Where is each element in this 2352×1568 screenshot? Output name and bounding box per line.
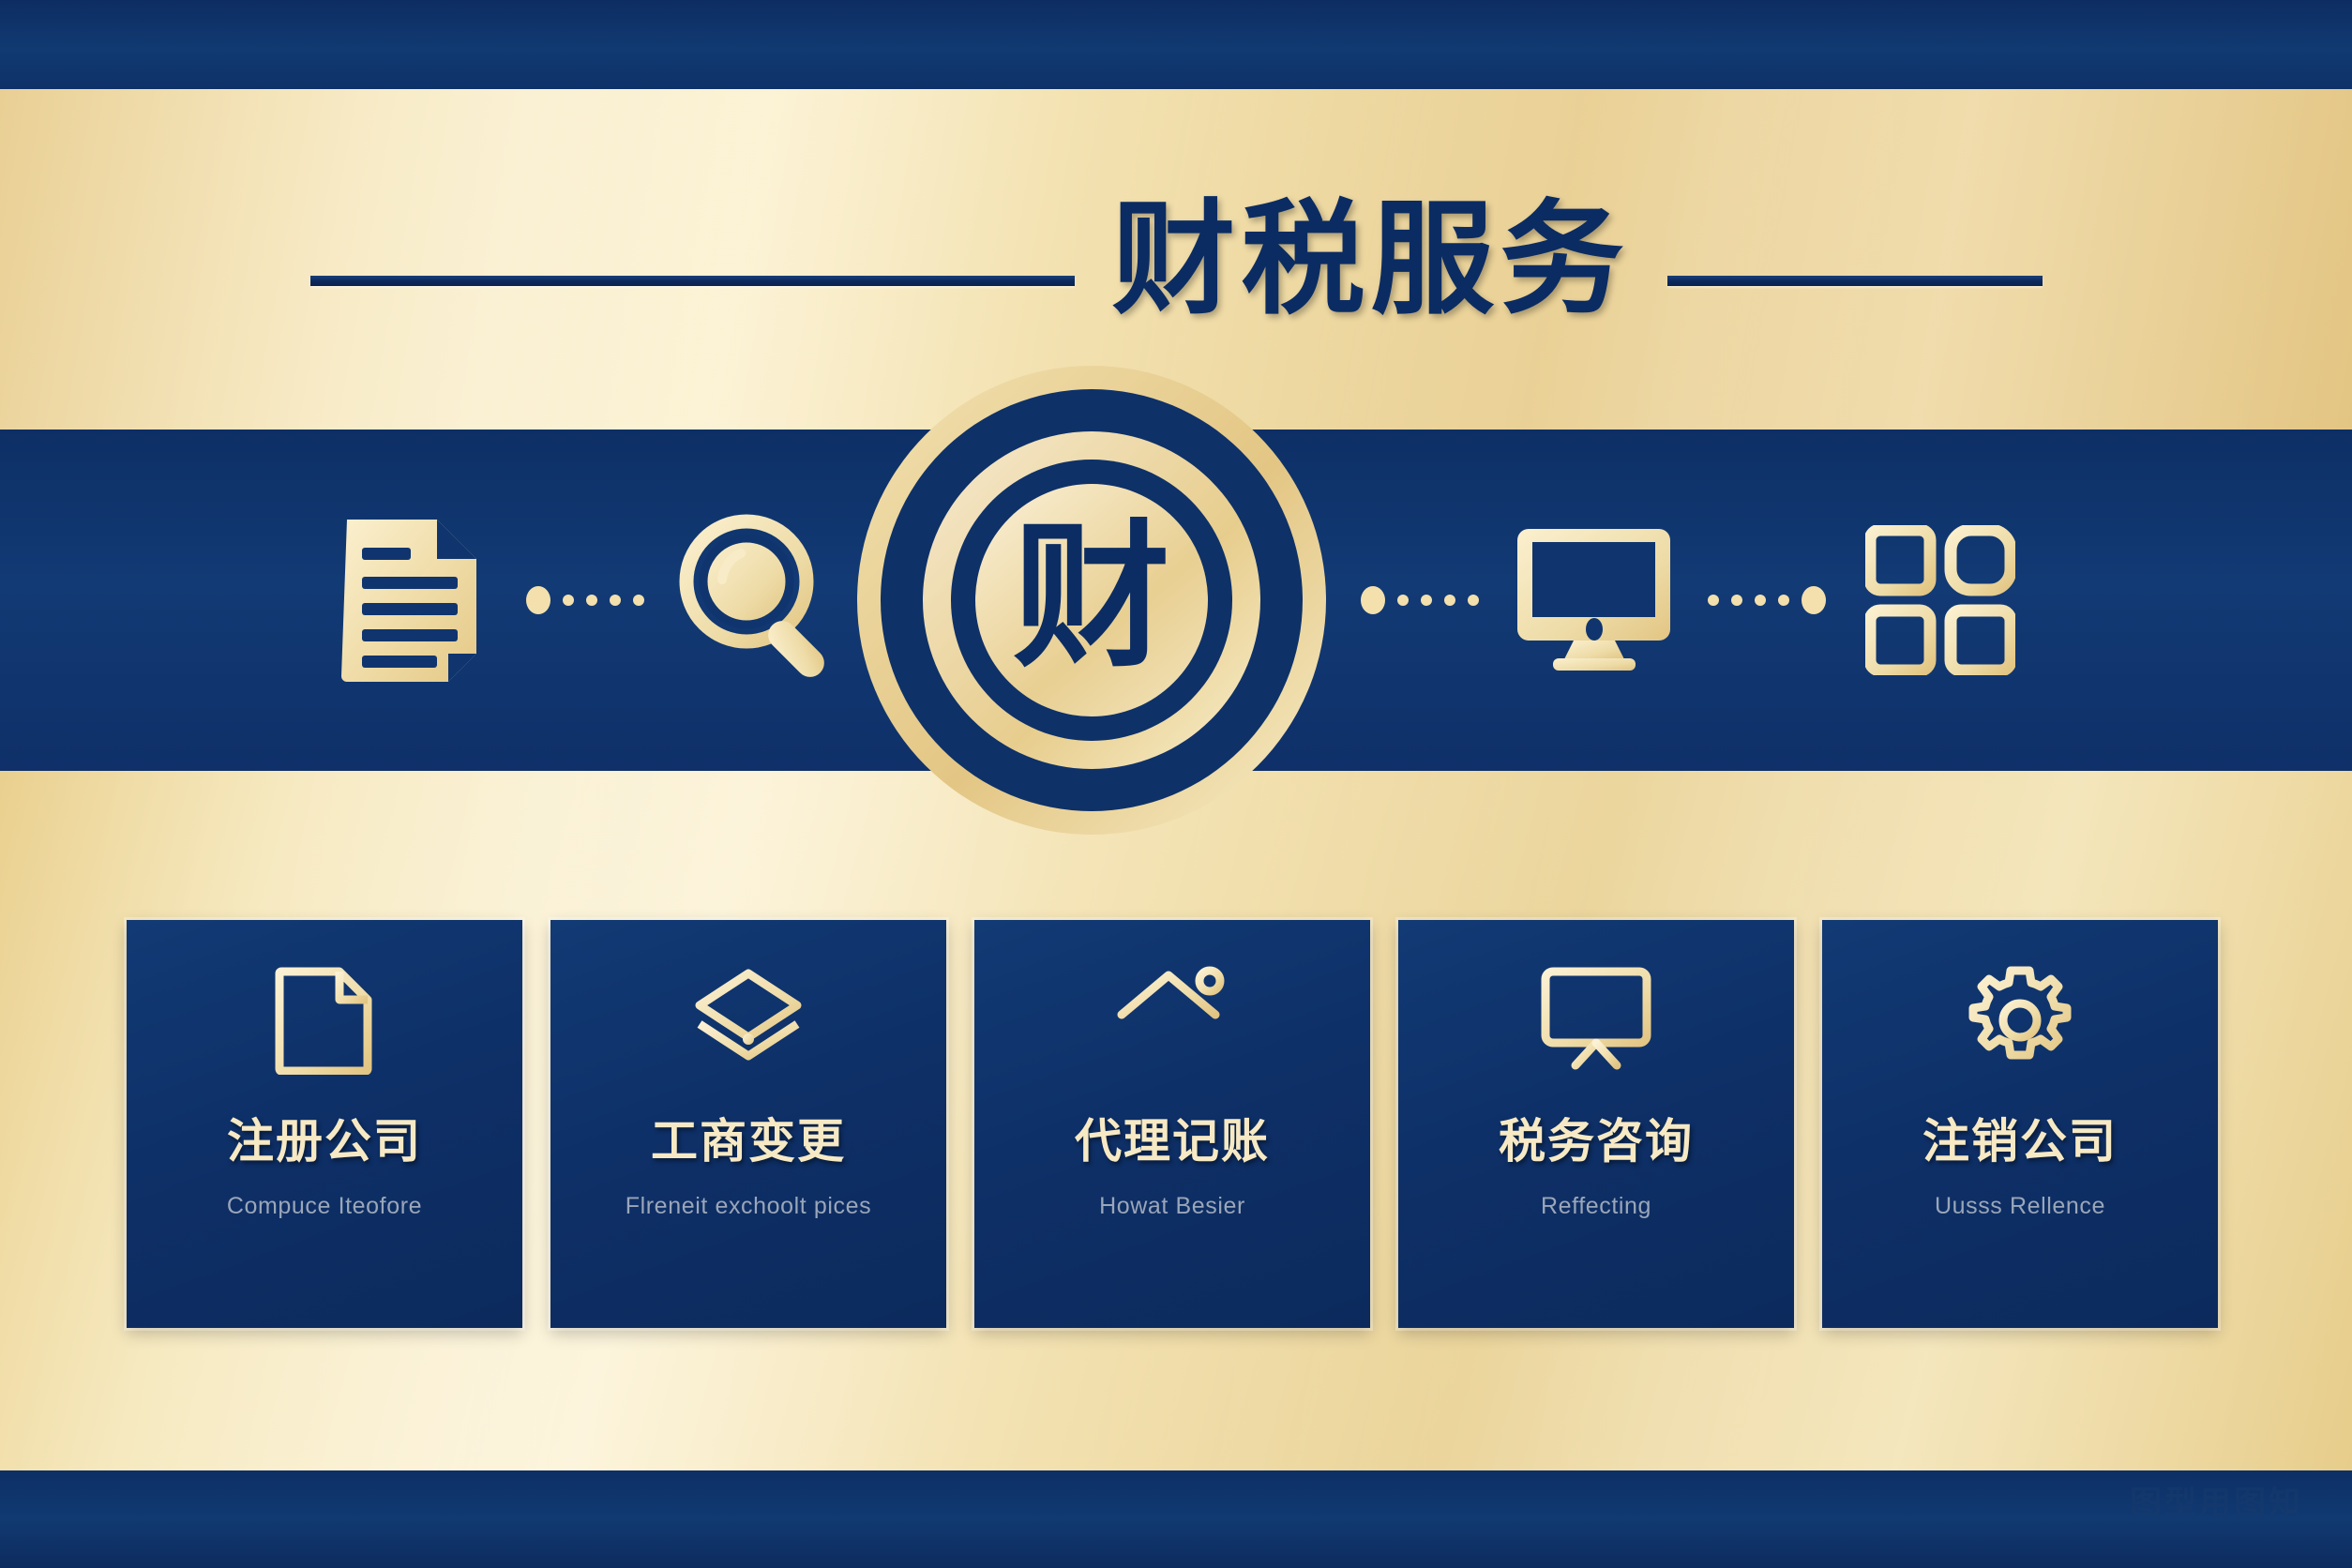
service-card-deregister[interactable]: 注销公司 Uusss Rellence (1822, 920, 2218, 1328)
card-subtitle: Howat Besier (1099, 1189, 1245, 1223)
card-title: 代理记账 (1075, 1117, 1270, 1167)
connector-dots-1 (501, 586, 670, 614)
emblem-icon: 财 (857, 366, 1326, 835)
monitor-icon (1504, 506, 1682, 694)
grid-icon (1851, 506, 2029, 694)
service-card-bookkeeping[interactable]: 代理记账 Howat Besier (974, 920, 1370, 1328)
bank-icon (1114, 965, 1230, 1076)
card-title: 注册公司 (227, 1117, 422, 1167)
card-title: 注销公司 (1922, 1117, 2118, 1167)
service-cards: 注册公司 Compuce Iteofore 工商变更 Flreneit exch… (127, 920, 2218, 1328)
document-outline-icon (274, 965, 375, 1076)
title-rule-left (310, 276, 1075, 286)
connector-dots-3 (1335, 586, 1504, 614)
connector-dots-4 (1682, 586, 1851, 614)
bottom-blue-band (0, 1470, 2352, 1568)
emblem-slot: 财 (848, 356, 1335, 844)
presentation-icon (1538, 965, 1654, 1076)
card-subtitle: Flreneit exchoolt pices (626, 1189, 872, 1223)
poster-root: 财税服务 (0, 0, 2352, 1568)
card-subtitle: Reffecting (1541, 1189, 1651, 1223)
title-rule-right (1667, 276, 2043, 286)
service-card-change[interactable]: 工商变更 Flreneit exchoolt pices (550, 920, 946, 1328)
top-blue-band (0, 0, 2352, 89)
emblem-character: 财 (1013, 519, 1170, 676)
service-card-register[interactable]: 注册公司 Compuce Iteofore (127, 920, 522, 1328)
gear-icon (1964, 965, 2076, 1076)
card-title: 税务咨询 (1499, 1117, 1694, 1167)
card-subtitle: Uusss Rellence (1935, 1189, 2105, 1223)
service-card-tax-consulting[interactable]: 税务咨询 Reffecting (1398, 920, 1794, 1328)
process-strip: 财 (0, 430, 2352, 771)
card-subtitle: Compuce Iteofore (227, 1189, 422, 1223)
page-title: 财税服务 (1112, 198, 1630, 322)
card-title: 工商变更 (651, 1117, 846, 1167)
layers-icon (690, 965, 807, 1076)
document-icon (323, 506, 501, 694)
magnifier-icon (670, 506, 848, 694)
watermark: 图型用图知 (2130, 1477, 2303, 1523)
